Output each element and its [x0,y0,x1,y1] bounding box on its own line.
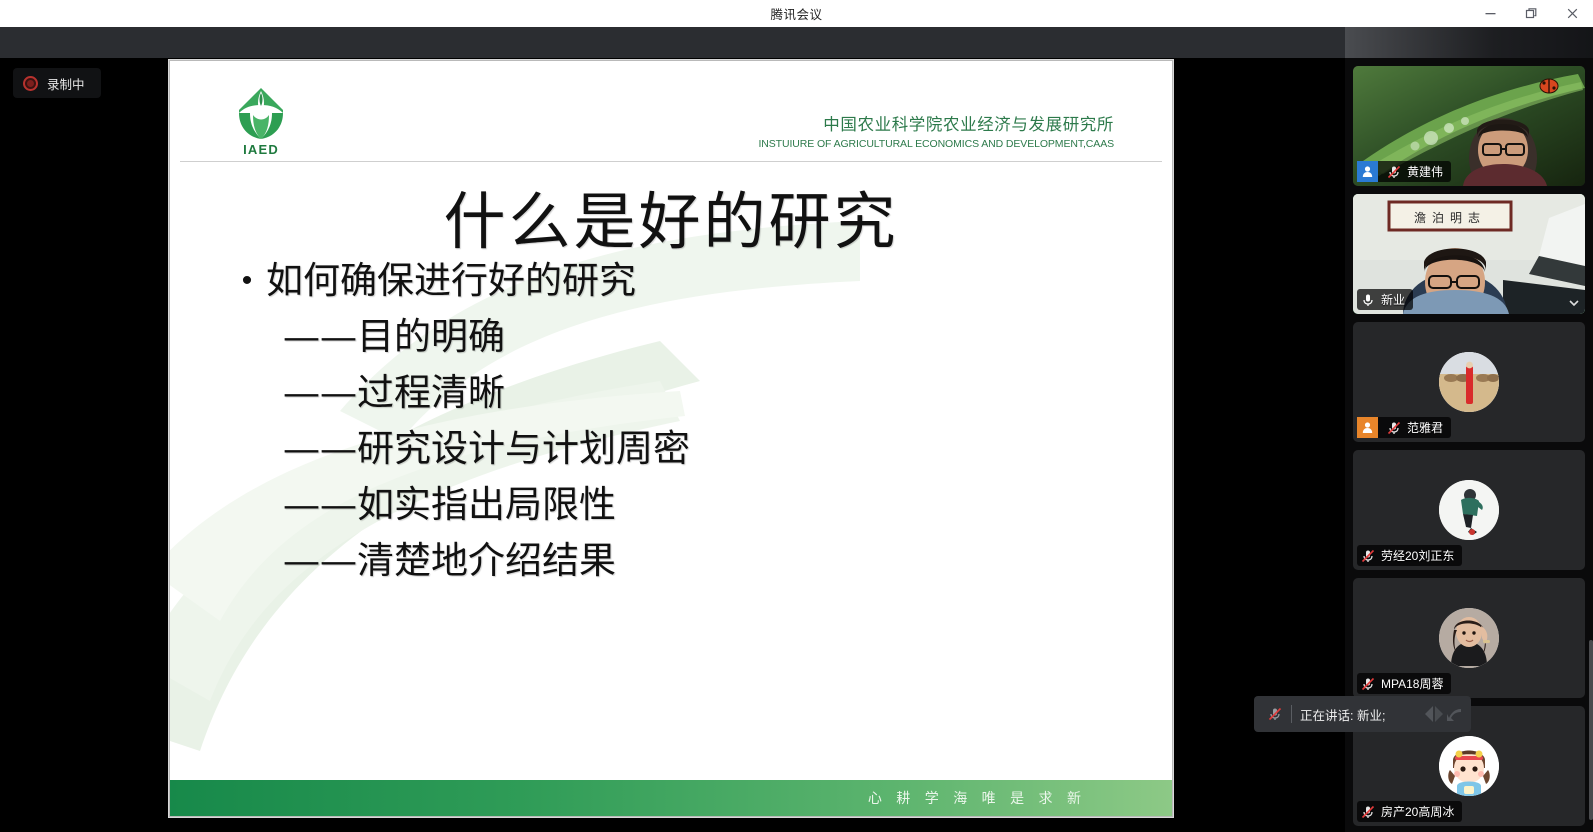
sub-bullet-1: ——目的明确 [283,309,1132,365]
top-toolbar-strip [0,27,1345,58]
avatar [1439,608,1499,668]
toast-arrow-icons[interactable] [1421,703,1465,725]
window-controls [1470,0,1593,27]
participant-name: 新业 [1381,291,1405,308]
chevron-down-icon[interactable] [1567,296,1581,310]
bullet-text: 如何确保进行好的研究 [266,253,636,309]
participant-tile[interactable]: 范雅君 [1353,322,1585,442]
title-bar: 腾讯会议 [0,0,1593,27]
mic-muted-icon [1360,676,1376,692]
avatar [1439,480,1499,540]
sub-bullet-4: ——如实指出局限性 [283,477,1132,533]
close-button[interactable] [1552,0,1593,27]
slide-footer: 心 耕 学 海 唯 是 求 新 [170,780,1172,816]
person-badge-icon [1357,417,1378,438]
mic-muted-icon [1386,420,1402,436]
participant-nametag: 黄建伟 [1357,161,1451,182]
participant-tile-active[interactable]: 澹泊明志 [1353,194,1585,314]
minimize-button[interactable] [1470,0,1511,27]
participant-nametag: 房产20高周冰 [1357,801,1462,822]
mic-muted-icon [1386,164,1402,180]
slide-title: 什么是好的研究 [170,171,1172,261]
slide-header: IAED 中国农业科学院农业经济与发展研究所 INSTUIURE OF AGRI… [170,61,1172,161]
presentation-slide: IAED 中国农业科学院农业经济与发展研究所 INSTUIURE OF AGRI… [169,60,1173,817]
tencent-meeting-window: 腾讯会议 录制中 [0,0,1593,832]
mic-muted-icon [1360,804,1376,820]
avatar [1439,352,1499,412]
shared-screen-stage: 录制中 [0,58,1345,832]
participant-name: 房产20高周冰 [1381,803,1454,820]
org-identity: 中国农业科学院农业经济与发展研究所 INSTUIURE OF AGRICULTU… [758,111,1114,150]
avatar [1439,736,1499,796]
slide-footer-text: 心 耕 学 海 唯 是 求 新 [868,788,1086,808]
participant-nametag: MPA18周蓉 [1357,673,1451,694]
participant-nametag: 范雅君 [1357,417,1451,438]
recording-label: 录制中 [47,74,85,93]
sub-bullet-2: ——过程清晰 [283,365,1132,421]
sub-bullet-5: ——清楚地介绍结果 [283,533,1132,589]
panel-top-strip [1345,27,1593,58]
speaking-status-text: 正在讲话: 新业; [1300,705,1385,724]
participant-tile[interactable]: 劳经20刘正东 [1353,450,1585,570]
bullet-row: • 如何确保进行好的研究 [228,253,1132,309]
participant-name: 劳经20刘正东 [1381,547,1454,564]
wheat-leaf-icon [233,85,289,141]
mic-muted-icon [1267,706,1283,722]
slide-body: • 如何确保进行好的研究 ——目的明确 ——过程清晰 ——研究设计与计划周密 —… [228,253,1132,589]
iaed-logo: IAED [227,85,295,157]
person-badge-icon [1357,161,1378,182]
svg-text:澹泊明志: 澹泊明志 [1414,211,1486,225]
participant-tile[interactable]: 黄建伟 [1353,66,1585,186]
org-name-en: INSTUIURE OF AGRICULTURAL ECONOMICS AND … [758,138,1114,150]
participant-name: MPA18周蓉 [1381,675,1443,692]
bullet-marker: • [228,253,266,309]
participant-tile[interactable]: MPA18周蓉 [1353,578,1585,698]
mic-muted-icon [1360,548,1376,564]
iaed-logo-text: IAED [227,142,295,157]
window-title: 腾讯会议 [770,4,822,23]
org-name-cn: 中国农业科学院农业经济与发展研究所 [758,111,1114,135]
recording-badge: 录制中 [13,68,101,98]
mic-on-icon [1360,292,1376,308]
record-dot-icon [23,76,38,91]
participant-name: 黄建伟 [1407,163,1443,180]
participant-name: 范雅君 [1407,419,1443,436]
toast-divider [1291,705,1292,723]
participant-nametag: 劳经20刘正东 [1357,545,1462,566]
restore-button[interactable] [1511,0,1552,27]
header-divider [180,161,1162,162]
speaking-toast: 正在讲话: 新业; [1254,696,1471,732]
sub-bullet-3: ——研究设计与计划周密 [283,421,1132,477]
participant-nametag: 新业 [1357,289,1413,310]
panel-scrollbar[interactable] [1589,640,1593,820]
